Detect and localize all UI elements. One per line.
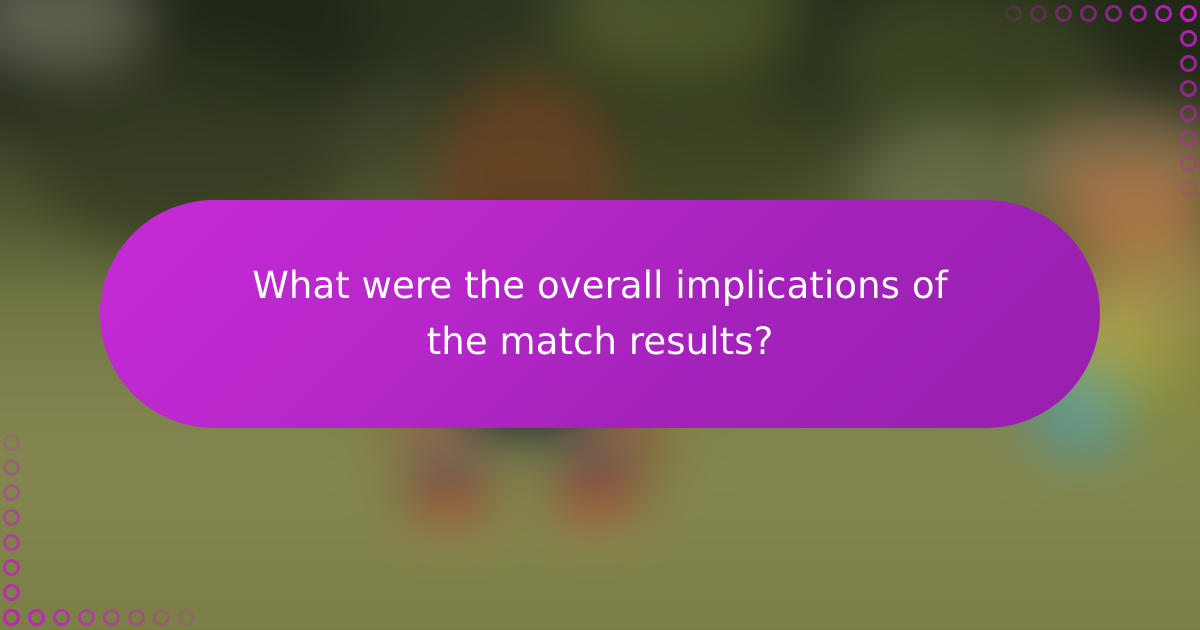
social-card-canvas: What were the overall implications of th… [0,0,1200,630]
question-card: What were the overall implications of th… [100,200,1100,428]
player-boot-sole [416,488,486,516]
player-boot-sole [560,484,634,514]
question-text: What were the overall implications of th… [230,258,970,370]
